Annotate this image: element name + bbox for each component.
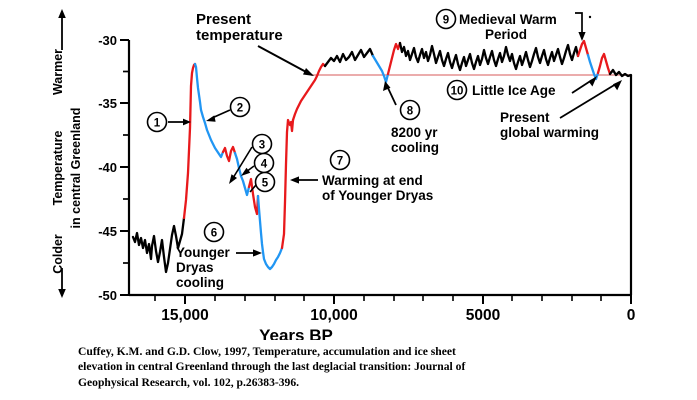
curve-segment-yd-termination (282, 120, 293, 248)
figure-root: -30 -35 -40 -45 -50 15,000 10,000 5000 0… (0, 0, 697, 400)
present-warming-arrow-head (613, 80, 622, 90)
leader-arrow-7 (290, 176, 299, 183)
curve-segment-post-8200-warming (388, 43, 400, 74)
leader-8 (388, 88, 396, 105)
y-tick-label: -40 (98, 160, 117, 175)
x-tick-label: 10,000 (310, 307, 357, 324)
circle-number-10: 10 (451, 86, 464, 98)
circle-number-4: 4 (261, 159, 268, 171)
annotation-5: 5 (250, 173, 275, 193)
curve-segment-alleroed-cooling (195, 64, 223, 157)
curve-segment-mwp-warming (578, 41, 588, 56)
circle-number-7: 7 (337, 156, 343, 168)
present-temperature-arrow-shaft (258, 46, 308, 73)
leader-arrow-10 (589, 76, 598, 87)
present-warming-label-line2: global warming (500, 125, 599, 140)
caption-line-3: Geophysical Research, vol. 102, p.26383-… (78, 375, 638, 390)
mwp-arrow-head (578, 32, 585, 41)
circle-number-2: 2 (237, 103, 243, 115)
little-ice-age-label: Little Ice Age (472, 83, 556, 98)
warming-yd-label-line2: of Younger Dryas (322, 188, 433, 203)
x-axis-title: Years BP (259, 326, 333, 340)
colder-arrow-head (58, 289, 66, 298)
younger-dryas-label-line3: cooling (176, 275, 224, 290)
y-tick-label: -45 (98, 224, 117, 239)
circle-number-1: 1 (154, 118, 161, 130)
cooling-8200-label-line2: cooling (391, 140, 439, 155)
circle-number-6: 6 (211, 228, 217, 240)
caption-line-1: Cuffey, K.M. and G.D. Clow, 1997, Temper… (78, 344, 638, 359)
y-tick-label: -35 (98, 96, 117, 111)
y-tick-label: -30 (98, 33, 117, 48)
circle-number-3: 3 (259, 140, 265, 152)
curve-segment-holocene-stable (400, 43, 578, 70)
x-tick-label: 0 (627, 307, 636, 324)
y-axis-title-line1: Temperature (51, 131, 65, 206)
annotation-10: 10 Little Ice Age (448, 76, 598, 100)
curve-segment-present-warming (598, 54, 610, 74)
leader-2 (212, 110, 230, 118)
leader-10 (572, 80, 592, 93)
y-axis-colder-label: Colder (51, 234, 65, 274)
annotation-2: 2 (206, 98, 250, 122)
y-axis-warmer-label: Warmer (51, 49, 65, 95)
x-tick-label: 15,000 (161, 307, 208, 324)
temperature-chart: -30 -35 -40 -45 -50 15,000 10,000 5000 0… (0, 0, 697, 340)
leader-3 (233, 147, 252, 178)
mwp-label-line1: Medieval Warm (459, 12, 557, 27)
figure-caption: Cuffey, K.M. and G.D. Clow, 1997, Temper… (78, 344, 638, 390)
curve-segment-fluct-warm (223, 147, 235, 161)
leader-arrow-2 (206, 115, 216, 121)
annotation-6: 6 Younger Dryas cooling (176, 223, 262, 291)
y-tick-label: -50 (98, 288, 117, 303)
leader-arrow-6 (253, 249, 262, 256)
circle-number-9: 9 (443, 15, 449, 27)
x-tick-labels: 15,000 10,000 5000 0 (161, 307, 635, 324)
x-major-ticks (185, 295, 631, 304)
younger-dryas-label-line2: Dryas (176, 260, 214, 275)
y-major-ticks (120, 40, 129, 295)
warming-yd-label-line1: Warming at end (322, 173, 423, 188)
annotation-9: 9 Medieval Warm Period (437, 10, 592, 43)
present-warming-arrow-shaft (560, 84, 616, 118)
present-temperature-label-line1: Present (196, 11, 251, 28)
mwp-bracket (575, 13, 582, 34)
curve-segment-pre-8200-cooling (373, 56, 388, 82)
curve-segment-holocene-optimum (325, 49, 373, 66)
mwp-label-line2: Period (485, 27, 527, 42)
y-tick-labels: -30 -35 -40 -45 -50 (98, 33, 117, 303)
curve-segment-fluct-cool (235, 153, 249, 195)
annotation-8: 8 8200 yr cooling (383, 81, 439, 155)
curve-segment-boelling-warming (184, 64, 195, 218)
present-temperature-arrow-head (303, 68, 314, 76)
x-tick-label: 5000 (466, 307, 500, 324)
younger-dryas-label-line1: Younger (176, 245, 230, 260)
warmer-arrow-head (58, 9, 66, 18)
annotation-1: 1 (148, 113, 192, 132)
present-temperature-label-line2: temperature (196, 27, 283, 44)
chart-svg: -30 -35 -40 -45 -50 15,000 10,000 5000 0… (0, 0, 697, 340)
leader-arrow-3 (229, 174, 237, 184)
annotation-present-temperature: Present temperature (196, 11, 314, 76)
circle-number-5: 5 (262, 178, 269, 190)
annotation-7: 7 Warming at end of Younger Dryas (290, 151, 433, 204)
circle-number-8: 8 (407, 106, 414, 118)
caption-line-2: elevation in central Greenland through t… (78, 359, 638, 374)
curve-segment-younger-dryas (258, 196, 282, 269)
mwp-dot (589, 16, 591, 18)
present-warming-label-line1: Present (500, 110, 550, 125)
cooling-8200-label-line1: 8200 yr (391, 125, 438, 140)
y-axis-title-line2: in central Greenland (69, 108, 83, 229)
